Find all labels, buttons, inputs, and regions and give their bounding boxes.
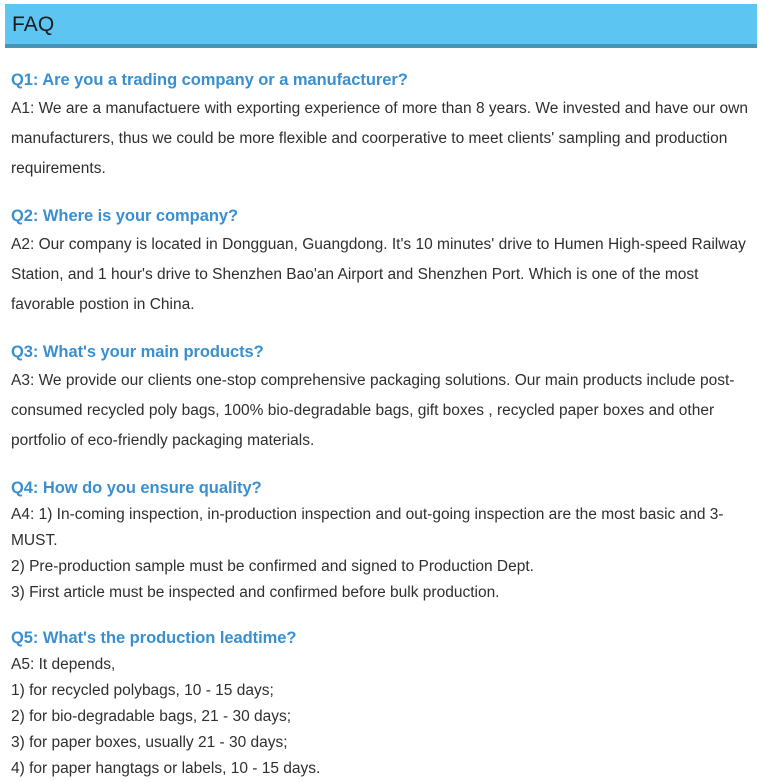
faq-list: Q1: Are you a trading company or a manuf… [0, 48, 765, 782]
faq-answer-q2: A2: Our company is located in Dongguan, … [11, 230, 750, 320]
faq-question-q3: Q3: What's your main products? [11, 341, 750, 365]
faq-question-q2: Q2: Where is your company? [11, 205, 750, 229]
faq-answer-q1: A1: We are a manufactuere with exporting… [11, 94, 750, 184]
answer-line: 3) First article must be inspected and c… [11, 580, 750, 606]
faq-question-q1: Q1: Are you a trading company or a manuf… [11, 69, 750, 93]
faq-item-q1: Q1: Are you a trading company or a manuf… [11, 69, 750, 184]
answer-line: 2) for bio-degradable bags, 21 - 30 days… [11, 704, 750, 730]
faq-item-q4: Q4: How do you ensure quality? A4: 1) In… [11, 477, 750, 606]
faq-item-q5: Q5: What's the production leadtime? A5: … [11, 627, 750, 782]
faq-item-q2: Q2: Where is your company? A2: Our compa… [11, 205, 750, 320]
page-title: FAQ [5, 14, 54, 35]
faq-question-q5: Q5: What's the production leadtime? [11, 627, 750, 651]
faq-answer-q3: A3: We provide our clients one-stop comp… [11, 366, 750, 456]
faq-answer-q5: A5: It depends,1) for recycled polybags,… [11, 652, 750, 782]
faq-answer-q4: A4: 1) In-coming inspection, in-producti… [11, 502, 750, 606]
answer-line: 1) for recycled polybags, 10 - 15 days; [11, 678, 750, 704]
answer-line: A4: 1) In-coming inspection, in-producti… [11, 502, 750, 554]
answer-line: 3) for paper boxes, usually 21 - 30 days… [11, 730, 750, 756]
faq-item-q3: Q3: What's your main products? A3: We pr… [11, 341, 750, 456]
answer-line: 2) Pre-production sample must be confirm… [11, 554, 750, 580]
answer-line: A5: It depends, [11, 652, 750, 678]
faq-question-q4: Q4: How do you ensure quality? [11, 477, 750, 501]
faq-header-banner: FAQ [5, 4, 757, 48]
faq-page: FAQ Q1: Are you a trading company or a m… [0, 4, 765, 782]
answer-line: 4) for paper hangtags or labels, 10 - 15… [11, 756, 750, 782]
